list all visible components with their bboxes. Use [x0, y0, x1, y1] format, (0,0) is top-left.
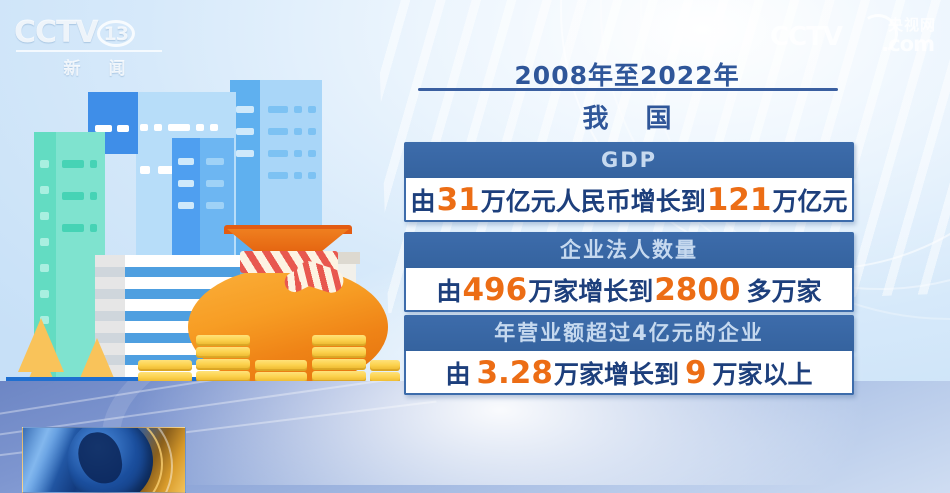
- window: [196, 124, 204, 131]
- value-to: 121: [706, 182, 773, 218]
- value-suffix: 万家以上: [713, 360, 813, 389]
- window: [268, 172, 288, 179]
- window: [206, 180, 224, 187]
- stat-block: GDP 由31万亿元人民币增长到121万亿元: [404, 142, 854, 222]
- window: [308, 150, 316, 157]
- window: [90, 160, 97, 168]
- stat-block-value: 由496万家增长到2800多万家: [404, 268, 854, 312]
- window: [268, 128, 288, 135]
- window: [178, 202, 194, 209]
- stat-block-title: GDP: [404, 142, 854, 178]
- news-lower-third-graphic: [22, 427, 186, 493]
- era-heading: 2008年至2022年: [412, 56, 842, 92]
- window: [308, 172, 316, 179]
- window: [95, 125, 112, 132]
- value-suffix: 多万家: [747, 277, 822, 306]
- window: [40, 186, 49, 194]
- cctv13-logo-rule: [16, 50, 162, 52]
- window: [40, 160, 49, 168]
- statistics-panel: 2008年至2022年 我 国 GDP 由31万亿元人民币增长到121万亿元 企…: [404, 0, 950, 420]
- window: [40, 290, 49, 298]
- window: [206, 158, 224, 165]
- window: [140, 166, 150, 174]
- window: [140, 124, 148, 131]
- cctv13-logo: CCTV 13 新 闻: [14, 18, 164, 76]
- value-prefix: 由: [436, 277, 461, 306]
- stat-block: 年营业额超过4亿元的企业 由3.28万家增长到9万家以上: [404, 315, 854, 395]
- value-mid: 万家增长到: [554, 360, 679, 389]
- window: [206, 202, 224, 209]
- window: [308, 128, 316, 135]
- stat-block-value: 由31万亿元人民币增长到121万亿元: [404, 178, 854, 222]
- window: [62, 224, 84, 232]
- window: [154, 124, 162, 131]
- value-mid: 万亿元人民币增长到: [481, 187, 706, 216]
- value-from: 31: [436, 182, 481, 218]
- window: [90, 224, 97, 232]
- window: [236, 106, 254, 113]
- window: [117, 125, 129, 132]
- window: [236, 128, 254, 135]
- window: [294, 172, 302, 179]
- stat-block: 企业法人数量 由496万家增长到2800多万家: [404, 232, 854, 312]
- window: [308, 106, 316, 113]
- window: [210, 124, 218, 131]
- window: [40, 212, 49, 220]
- cctv13-logo-row: CCTV 13: [14, 18, 164, 48]
- window: [268, 106, 288, 113]
- city-illustration: [0, 70, 400, 420]
- window: [294, 128, 302, 135]
- window: [178, 180, 194, 187]
- value-from: 3.28: [475, 355, 554, 391]
- value-mid: 万家增长到: [528, 277, 653, 306]
- country-heading: 我 国: [412, 98, 842, 135]
- window: [268, 150, 288, 157]
- window: [294, 106, 302, 113]
- window: [294, 150, 302, 157]
- cctv-wordmark: CCTV: [14, 18, 98, 48]
- stat-block-title: 企业法人数量: [404, 232, 854, 268]
- value-to: 9: [684, 355, 708, 391]
- value-prefix: 由: [445, 360, 470, 389]
- window: [178, 158, 194, 165]
- value-to: 2800: [653, 272, 741, 308]
- era-underline: [418, 88, 838, 91]
- stat-block-title: 年营业额超过4亿元的企业: [404, 315, 854, 351]
- value-suffix: 万亿元: [772, 187, 847, 216]
- window: [62, 192, 84, 200]
- window: [40, 238, 49, 246]
- value-prefix: 由: [411, 187, 436, 216]
- value-from: 496: [461, 272, 528, 308]
- broadcast-graphic-stage: CCTV 13 新 闻 CCTV 央视网 .com 2008年至2022年 我 …: [0, 0, 950, 493]
- stat-block-value: 由3.28万家增长到9万家以上: [404, 351, 854, 395]
- window: [90, 192, 97, 200]
- cctv13-number-ring: 13: [97, 20, 135, 47]
- window: [40, 264, 49, 272]
- cctv13-logo-subtitle: 新 闻: [14, 54, 164, 79]
- window: [236, 150, 254, 157]
- window: [62, 160, 84, 168]
- window: [168, 124, 190, 131]
